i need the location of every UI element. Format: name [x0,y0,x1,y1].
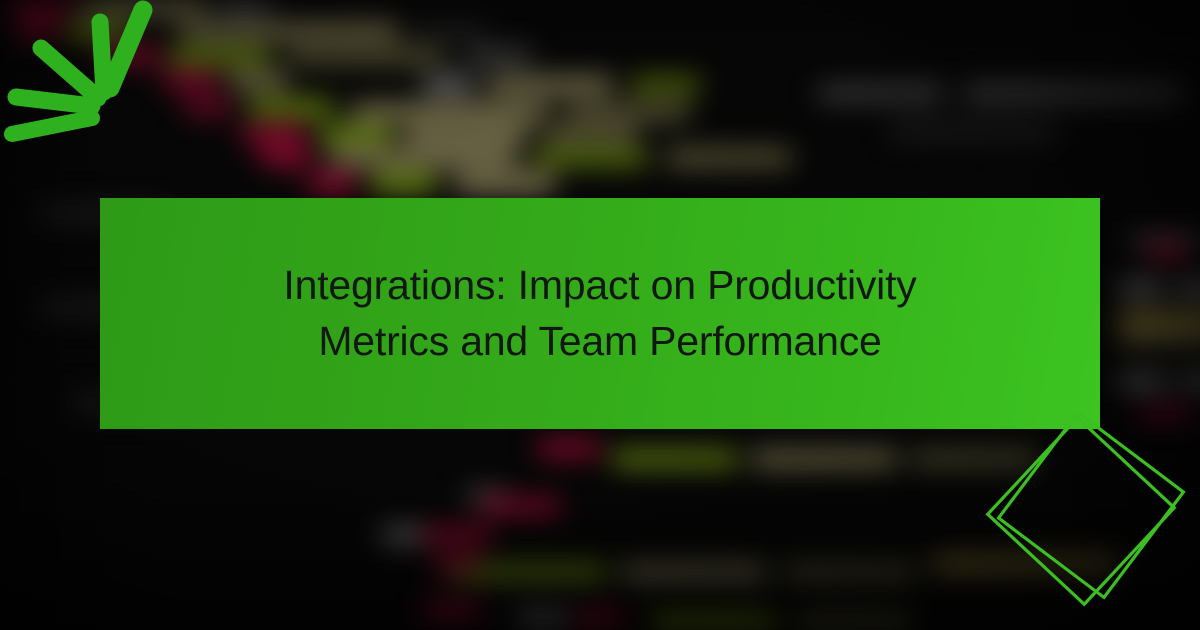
social-card: Integrations: Impact on Productivity Met… [0,0,1200,630]
page-title: Integrations: Impact on Productivity Met… [250,258,950,370]
rotated-squares-icon [975,405,1200,630]
starburst-icon [0,0,200,160]
title-banner: Integrations: Impact on Productivity Met… [100,198,1100,429]
